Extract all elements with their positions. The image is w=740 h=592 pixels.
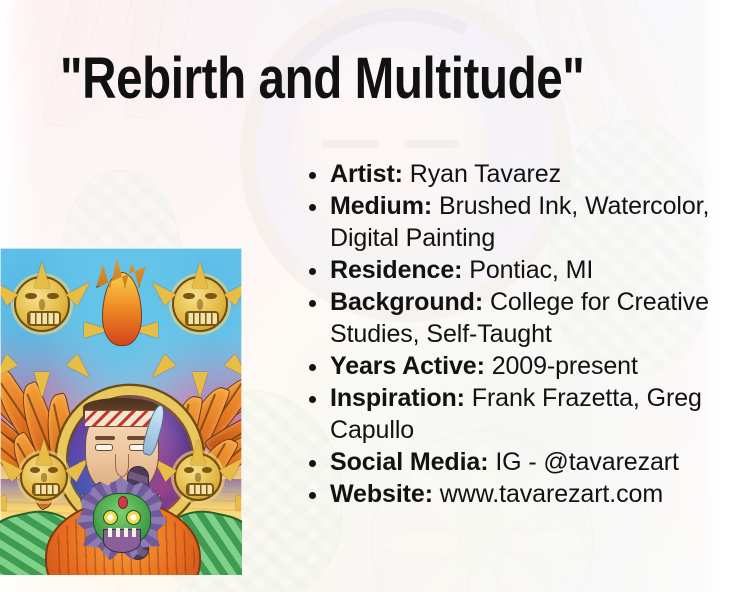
list-item: Artist: Ryan Tavarez — [306, 158, 716, 190]
list-item: Inspiration: Frank Frazetta, Greg Capull… — [306, 382, 716, 446]
dragon-eye-left — [103, 510, 118, 525]
page-title: "Rebirth and Multitude" — [60, 50, 584, 108]
list-item: Website: www.tavarezart.com — [306, 478, 716, 510]
detail-label: Background: — [330, 288, 483, 316]
dragon-gem — [118, 496, 128, 509]
list-item: Medium: Brushed Ink, Watercolor, Digital… — [306, 190, 716, 254]
artwork-image — [0, 248, 242, 575]
list-item: Background: College for Creative Studies… — [306, 286, 716, 350]
detail-label: Website: — [330, 480, 433, 508]
sun-face-icon — [20, 453, 68, 501]
right-white-margin — [721, 0, 740, 592]
detail-value: 2009-present — [492, 352, 638, 380]
sun-face-icon — [174, 453, 222, 501]
artwork-details-list: Artist: Ryan Tavarez Medium: Brushed Ink… — [306, 158, 716, 510]
dragon-eye-right — [126, 510, 141, 525]
list-item: Residence: Pontiac, MI — [306, 254, 716, 286]
eye-left — [95, 444, 113, 451]
list-item: Social Media: IG - @tavarezart — [306, 446, 716, 478]
detail-label: Medium: — [330, 192, 432, 220]
slide-canvas: "Rebirth and Multitude" — [0, 0, 740, 592]
list-item: Years Active: 2009-present — [306, 350, 716, 382]
detail-value[interactable]: www.tavarezart.com — [440, 480, 663, 508]
detail-label: Social Media: — [330, 448, 488, 476]
detail-label: Artist: — [330, 160, 403, 188]
zigzag-headband — [85, 410, 157, 427]
detail-label: Residence: — [330, 256, 462, 284]
detail-label: Inspiration: — [330, 384, 465, 412]
detail-value: IG - @tavarezart — [495, 448, 679, 476]
detail-value: Ryan Tavarez — [410, 160, 561, 188]
sun-face-icon — [172, 276, 228, 332]
dragon-head-icon — [75, 477, 167, 563]
sun-face-icon — [14, 276, 70, 332]
detail-label: Years Active: — [330, 352, 485, 380]
detail-value: Pontiac, MI — [469, 256, 593, 284]
brow-left — [95, 436, 115, 440]
dragon-jaw — [103, 529, 141, 553]
